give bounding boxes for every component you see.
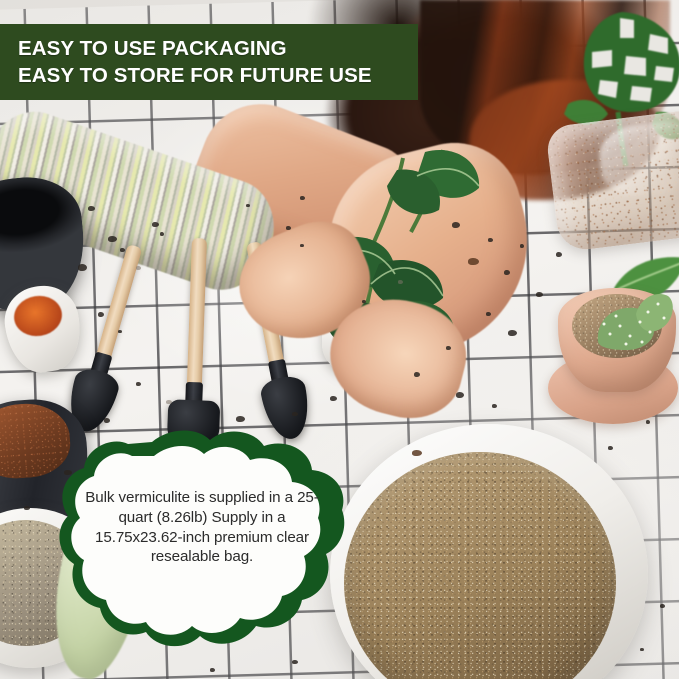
spec-callout-text: Bulk vermiculite is supplied in a 25-qua… — [78, 488, 326, 567]
spec-callout: Bulk vermiculite is supplied in a 25-qua… — [56, 428, 348, 656]
headline-line-2: EASY TO STORE FOR FUTURE USE — [18, 62, 418, 89]
headline-line-1: EASY TO USE PACKAGING — [18, 35, 418, 62]
product-infographic: EASY TO USE PACKAGING EASY TO STORE FOR … — [0, 0, 679, 679]
headline-banner: EASY TO USE PACKAGING EASY TO STORE FOR … — [0, 24, 418, 100]
